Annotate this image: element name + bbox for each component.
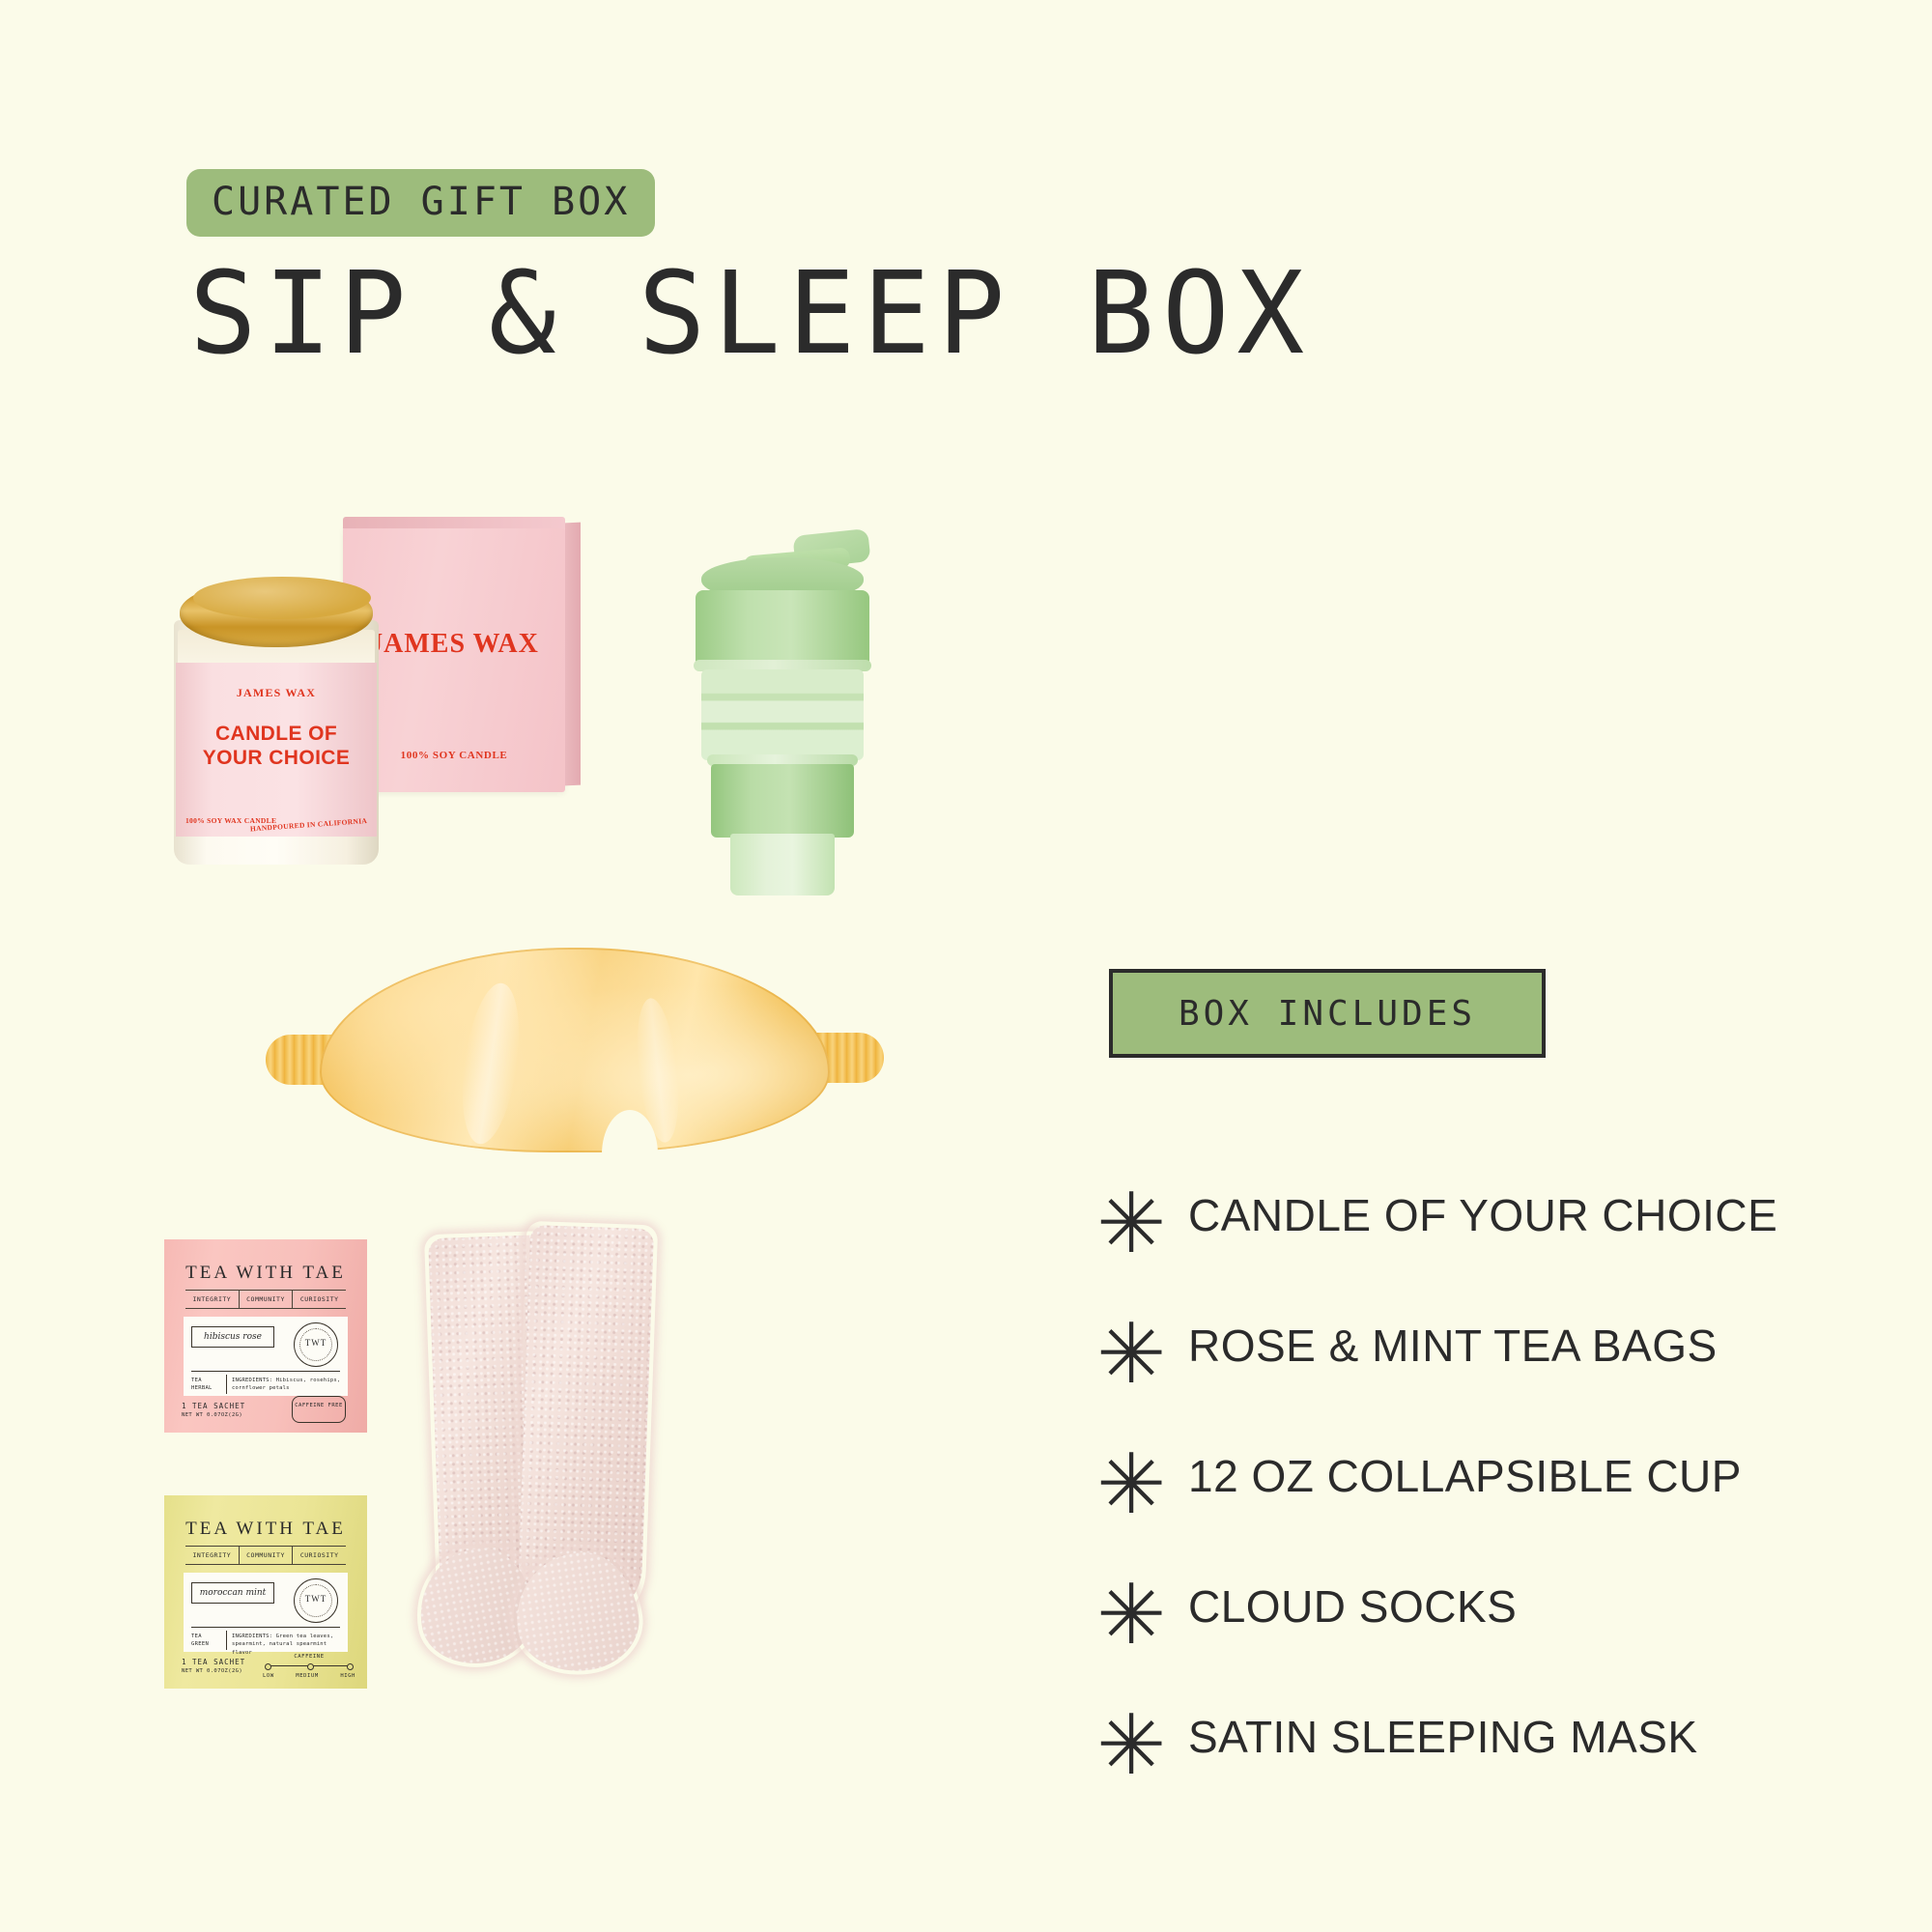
- mask-sheen-a: [454, 980, 528, 1148]
- sachet-value-2: COMMUNITY: [239, 1291, 293, 1308]
- cup-upper-ring: [696, 590, 869, 666]
- list-item: ✳ CANDLE OF YOUR CHOICE: [1096, 1150, 1831, 1280]
- sachet-twt-stamp-icon: [294, 1578, 338, 1623]
- box-includes-label: BOX INCLUDES: [1179, 994, 1476, 1034]
- sachet-type-line2: HERBAL: [191, 1385, 213, 1391]
- sachet-caffeine-bar-icon: [263, 1662, 355, 1670]
- sachet-vertical-divider: [226, 1631, 227, 1650]
- sachet-caffeine-medium: MEDIUM: [296, 1673, 318, 1679]
- poster-canvas: CURATED GIFT BOX SIP & SLEEP BOX JAMES W…: [0, 0, 1932, 1932]
- sachet-caffeine-title: CAFFEINE: [263, 1654, 355, 1660]
- sachet-caffeine-free-badge: CAFFEINE FREE: [292, 1396, 346, 1423]
- candle-jar-lid: [180, 580, 373, 647]
- sachet-caffeine-scale: CAFFEINE LOW MEDIUM HIGH: [263, 1654, 355, 1679]
- candle-label-brand: JAMES WAX: [176, 686, 377, 700]
- candle-jar-label: JAMES WAX CANDLE OF YOUR CHOICE 100% SOY…: [176, 663, 377, 837]
- sachet-info-card: moroccan mint TEA GREEN INGREDIENTS: Gre…: [184, 1573, 348, 1652]
- list-item-label: ROSE & MINT TEA BAGS: [1188, 1320, 1718, 1372]
- sachet-value-2: COMMUNITY: [239, 1547, 293, 1564]
- asterisk-icon: ✳: [1096, 1195, 1188, 1253]
- sachet-net-weight: NET WT 0.07OZ(2G): [182, 1668, 245, 1675]
- sachet-twt-stamp-icon: [294, 1322, 338, 1367]
- sachet-brand: TEA WITH TAE: [164, 1263, 367, 1284]
- cup-accordion-body: [701, 669, 864, 760]
- sachet-value-1: INTEGRITY: [185, 1547, 239, 1564]
- sachet-type-line1: TEA: [191, 1378, 202, 1383]
- sachet-value-3: CURIOSITY: [292, 1291, 346, 1308]
- tea-sachet-rose: TEA WITH TAE INTEGRITY COMMUNITY CURIOSI…: [164, 1239, 367, 1433]
- sachet-type: TEA GREEN: [191, 1633, 224, 1649]
- cloud-socks-image: [415, 1227, 705, 1652]
- asterisk-icon: ✳: [1096, 1456, 1188, 1514]
- list-item: ✳ ROSE & MINT TEA BAGS: [1096, 1280, 1831, 1410]
- asterisk-icon: ✳: [1096, 1717, 1188, 1775]
- sachet-quantity: 1 TEA SACHET: [182, 1402, 245, 1410]
- candle-jar-lid-top: [193, 577, 371, 619]
- box-includes-list: ✳ CANDLE OF YOUR CHOICE ✳ ROSE & MINT TE…: [1096, 1150, 1831, 1802]
- cup-base: [730, 834, 835, 895]
- list-item: ✳ CLOUD SOCKS: [1096, 1541, 1831, 1671]
- candle-label-headline-line2: YOUR CHOICE: [203, 747, 351, 769]
- asterisk-icon: ✳: [1096, 1325, 1188, 1383]
- sachet-flavor-name: moroccan mint: [191, 1582, 274, 1604]
- sachet-type-line1: TEA: [191, 1634, 202, 1639]
- sachet-net-weight: NET WT 0.07OZ(2G): [182, 1412, 245, 1419]
- list-item: ✳ SATIN SLEEPING MASK: [1096, 1671, 1831, 1802]
- asterisk-icon: ✳: [1096, 1586, 1188, 1644]
- candle-label-headline: CANDLE OF YOUR CHOICE: [176, 723, 377, 771]
- sachet-quantity: 1 TEA SACHET: [182, 1658, 245, 1666]
- sachet-caffeine-low: LOW: [263, 1673, 274, 1679]
- sachet-value-1: INTEGRITY: [185, 1291, 239, 1308]
- sachet-divider: [191, 1371, 340, 1372]
- list-item-label: CANDLE OF YOUR CHOICE: [1188, 1189, 1777, 1241]
- product-photo-collage: JAMES WAX 100% SOY CANDLE JAMES WAX CAND…: [0, 0, 1082, 1932]
- sachet-footer: 1 TEA SACHET NET WT 0.07OZ(2G): [182, 1658, 245, 1675]
- candle-box-top-flap: [343, 517, 565, 528]
- sachet-type: TEA HERBAL: [191, 1377, 224, 1393]
- tea-sachet-mint: TEA WITH TAE INTEGRITY COMMUNITY CURIOSI…: [164, 1495, 367, 1689]
- sachet-info-card: hibiscus rose TEA HERBAL INGREDIENTS: Hi…: [184, 1317, 348, 1396]
- list-item-label: SATIN SLEEPING MASK: [1188, 1711, 1698, 1763]
- candle-jar-image: JAMES WAX CANDLE OF YOUR CHOICE 100% SOY…: [174, 580, 379, 865]
- sachet-caffeine-high: HIGH: [340, 1673, 355, 1679]
- sachet-brand: TEA WITH TAE: [164, 1519, 367, 1540]
- sachet-caffeine-labels: LOW MEDIUM HIGH: [263, 1673, 355, 1679]
- sleeping-mask-image: [266, 932, 884, 1164]
- box-includes-badge: BOX INCLUDES: [1109, 969, 1546, 1058]
- sachet-divider: [191, 1627, 340, 1628]
- sachet-type-line2: GREEN: [191, 1641, 209, 1647]
- sachet-values-row: INTEGRITY COMMUNITY CURIOSITY: [185, 1546, 346, 1565]
- sachet-values-row: INTEGRITY COMMUNITY CURIOSITY: [185, 1290, 346, 1309]
- candle-box-side-panel: [565, 523, 581, 786]
- collapsible-cup-image: [686, 526, 879, 903]
- cup-lower-ring: [711, 764, 854, 838]
- sachet-vertical-divider: [226, 1375, 227, 1394]
- mask-body: [320, 948, 830, 1152]
- sachet-value-3: CURIOSITY: [292, 1547, 346, 1564]
- candle-label-headline-line1: CANDLE OF: [215, 723, 337, 745]
- list-item-label: 12 OZ COLLAPSIBLE CUP: [1188, 1450, 1742, 1502]
- sachet-footer: 1 TEA SACHET NET WT 0.07OZ(2G): [182, 1402, 245, 1419]
- list-item: ✳ 12 OZ COLLAPSIBLE CUP: [1096, 1410, 1831, 1541]
- sachet-ingredients: INGREDIENTS: Hibiscus, rosehips, cornflo…: [232, 1377, 342, 1393]
- list-item-label: CLOUD SOCKS: [1188, 1580, 1517, 1633]
- sachet-flavor-name: hibiscus rose: [191, 1326, 274, 1348]
